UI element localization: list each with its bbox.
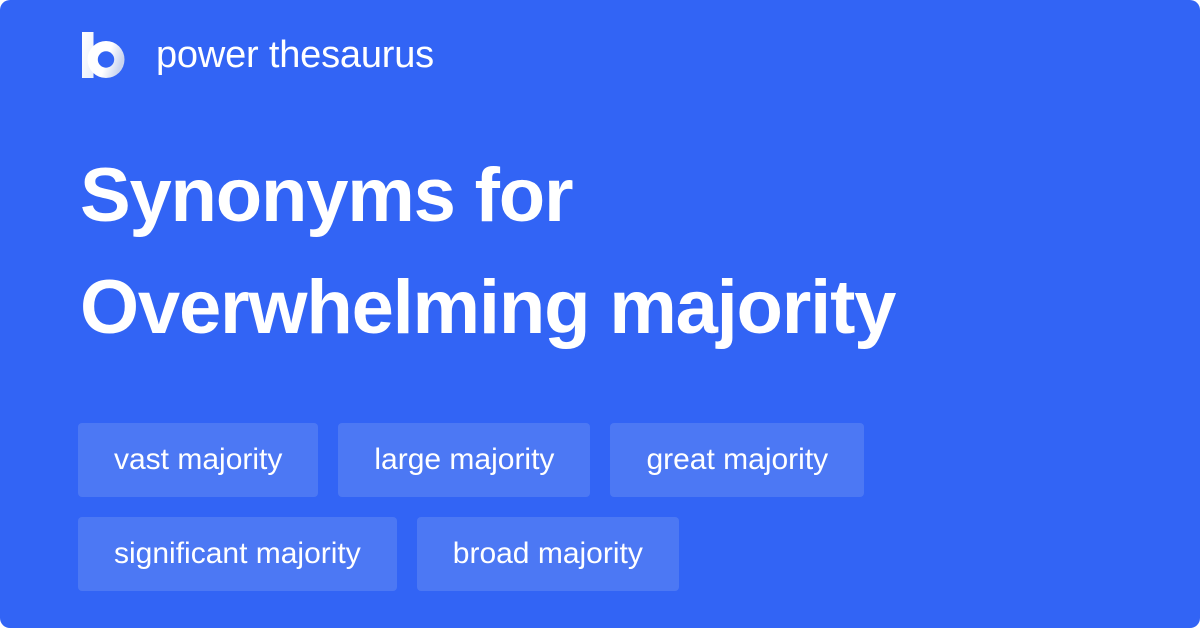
synonym-chip[interactable]: vast majority (78, 423, 318, 497)
power-thesaurus-b-logo-icon (78, 29, 130, 81)
brand-logo[interactable]: power thesaurus (78, 27, 434, 83)
synonym-chip[interactable]: large majority (338, 423, 590, 497)
page-title-line-1: Synonyms for (80, 140, 1130, 252)
synonym-chip[interactable]: broad majority (417, 517, 679, 591)
page-title: Synonyms for Overwhelming majority (80, 140, 1130, 365)
brand-wordmark: power thesaurus (156, 36, 434, 74)
synonym-chip[interactable]: significant majority (78, 517, 397, 591)
synonym-chip[interactable]: great majority (610, 423, 864, 497)
synonym-card: power thesaurus Synonyms for Overwhelmin… (0, 0, 1200, 628)
synonym-chip-list: vast majoritylarge majoritygreat majorit… (78, 423, 1138, 591)
page-title-line-2: Overwhelming majority (80, 252, 1130, 364)
